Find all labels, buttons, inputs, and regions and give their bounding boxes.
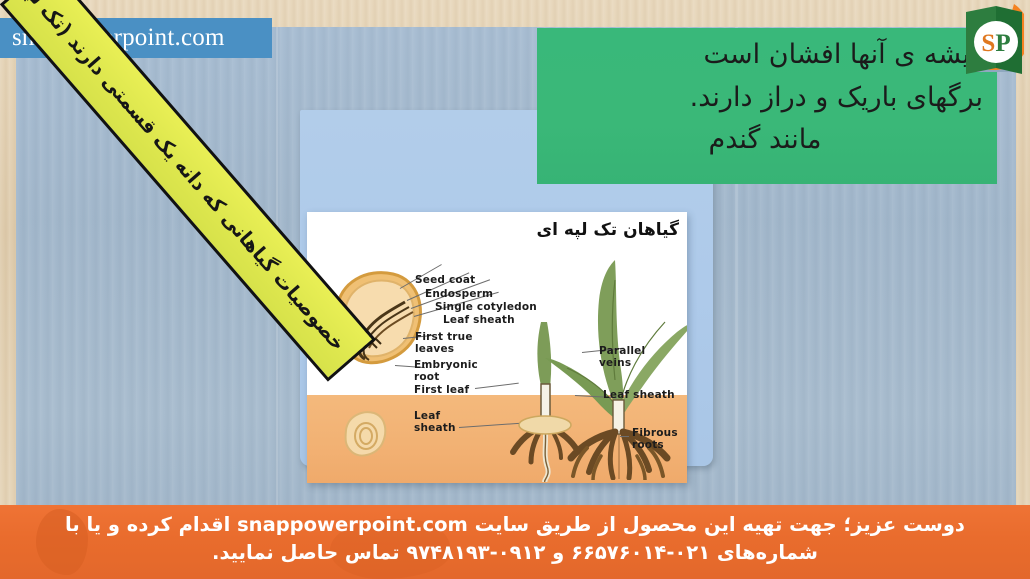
footer-phone-1: ۰۲۱-۶۶۵۷۶۰۱۴ [571,541,710,564]
label-first-leaf: First leaf [414,384,469,396]
logo-svg: SP [952,2,1024,88]
footer-line1-part-a: دوست عزیز؛ جهت تهیه این محصول از طریق سا… [475,513,965,536]
seed-small-icon [340,408,390,460]
footer-line-2: شماره‌های ۰۲۱-۶۶۵۷۶۰۱۴ و ۰۹۱۲-۹۷۴۸۱۹۳ تم… [0,539,1030,567]
footer-line2-part-b: تماس حاصل نمایید. [212,541,400,564]
label-parallel-veins: Parallel veins [599,345,645,369]
green-panel-line-3: مانند گندم [547,119,983,162]
footer-conjunction: و [552,541,564,564]
green-panel-line-1: ریشه ی آنها افشان است [547,34,983,77]
footer-line-1: دوست عزیز؛ جهت تهیه این محصول از طریق سا… [0,511,1030,539]
label-leaf-sheath-right: Leaf sheath [603,389,675,401]
footer-site-link[interactable]: snappowerpoint.com [237,511,468,539]
svg-text:SP: SP [981,30,1010,57]
footer-numbers-label: شماره‌های [717,541,818,564]
green-panel-line-2: برگهای باریک و دراز دارند. [547,77,983,120]
label-embryonic-root: Embryonic root [414,359,478,383]
diagram-title: گیاهان تک لپه ای [537,220,679,240]
footer-phone-2: ۰۹۱۲-۹۷۴۸۱۹۳ [406,541,545,564]
label-seed-coat: Seed coat [415,274,475,286]
green-text-panel: ریشه ی آنها افشان است برگهای باریک و درا… [537,28,997,184]
footer-line1-part-b: اقدام کرده و یا با [65,513,230,536]
label-single-cotyledon: Single cotyledon [435,301,537,313]
label-leaf-sheath-top: Leaf sheath [443,314,515,326]
label-first-true-leaves: First true leaves [415,331,473,355]
leader-line-fibrous-roots [620,436,629,437]
snappowerpoint-logo: SP [952,2,1024,88]
label-endosperm: Endosperm [425,288,493,300]
contact-footer: دوست عزیز؛ جهت تهیه این محصول از طریق سا… [0,505,1030,579]
label-leaf-sheath-lower: Leaf sheath [414,410,456,434]
label-fibrous-roots: Fibrous roots [632,427,678,451]
presentation-slide: snappowerpoint.com خصوصیات گیاهانی که دا… [0,0,1030,579]
footer-text: دوست عزیز؛ جهت تهیه این محصول از طریق سا… [0,505,1030,566]
